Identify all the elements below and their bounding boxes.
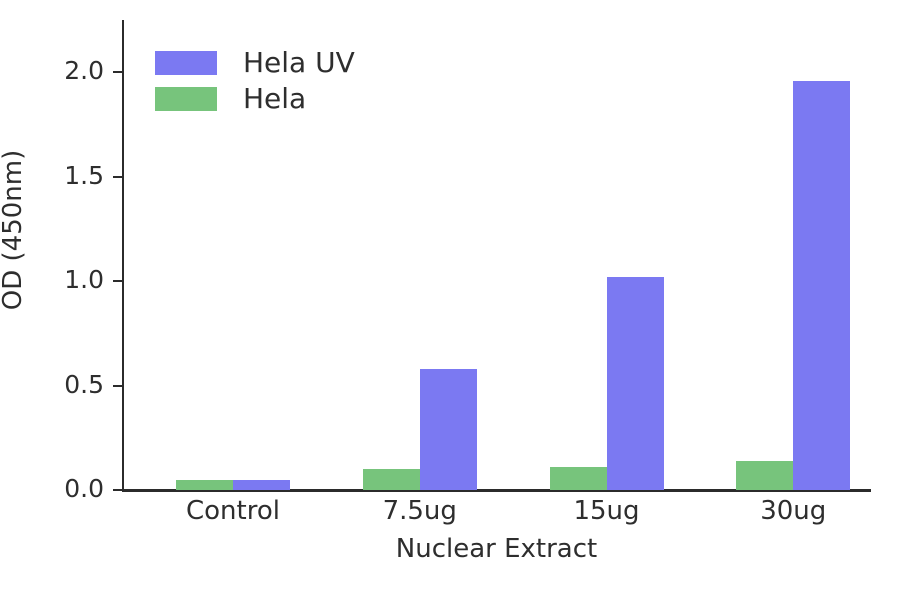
legend-swatch bbox=[155, 87, 217, 111]
legend-item: Hela bbox=[155, 81, 355, 117]
bar bbox=[607, 277, 664, 490]
bar bbox=[420, 369, 477, 490]
legend-label: Hela bbox=[243, 85, 306, 113]
x-axis-tick-label: 15ug bbox=[517, 496, 697, 526]
x-axis-tick-label: 30ug bbox=[703, 496, 883, 526]
x-axis-tick-label: 7.5ug bbox=[330, 496, 510, 526]
bar-chart-figure: 0.00.51.01.52.0 OD (450nm) Control7.5ug1… bbox=[0, 0, 900, 594]
bar bbox=[550, 467, 607, 490]
x-axis-tick-label: Control bbox=[143, 496, 323, 526]
legend-item: Hela UV bbox=[155, 45, 355, 81]
bar bbox=[233, 480, 290, 490]
chart-legend: Hela UVHela bbox=[155, 45, 355, 117]
legend-swatch bbox=[155, 51, 217, 75]
legend-label: Hela UV bbox=[243, 49, 355, 77]
bar bbox=[736, 461, 793, 490]
bar bbox=[793, 81, 850, 490]
x-axis-label: Nuclear Extract bbox=[122, 534, 871, 564]
bar bbox=[363, 469, 420, 490]
bar bbox=[176, 480, 233, 490]
